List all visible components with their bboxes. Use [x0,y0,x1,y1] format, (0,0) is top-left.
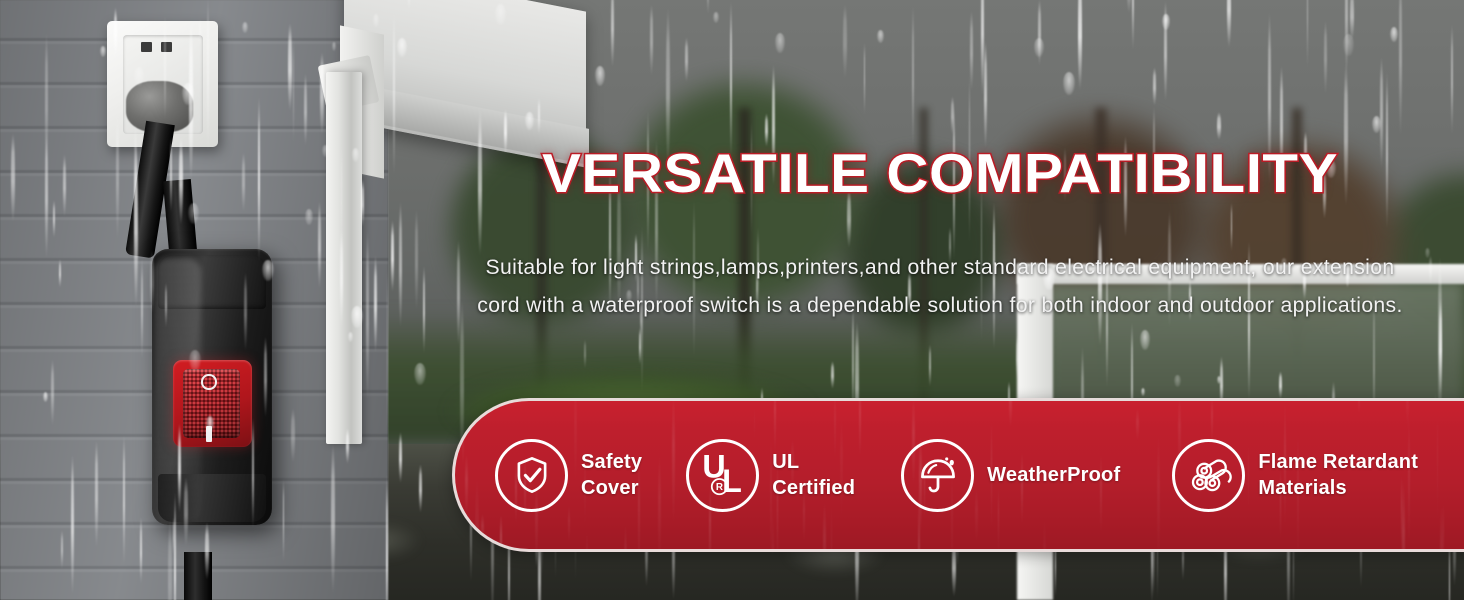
product-banner: VERSATILE COMPATIBILITY Suitable for lig… [0,0,1464,600]
cable-coil-icon [1172,439,1245,512]
feature-item-weatherproof[interactable]: WeatherProof [901,439,1120,512]
feature-badge-bar: Safety Cover U L R UL Certified [452,398,1464,552]
page-title: VERSATILE COMPATIBILITY [442,146,1438,201]
umbrella-rain-icon [901,439,974,512]
ul-certified-icon: U L R [686,439,759,512]
feature-label-flame-retardant: Flame Retardant Materials [1258,449,1418,501]
feature-label-safety-cover: Safety Cover [581,449,642,501]
feature-label-ul-certified: UL Certified [772,449,855,501]
feature-label-weatherproof: WeatherProof [987,462,1120,488]
feature-list: Safety Cover U L R UL Certified [455,401,1464,549]
shield-check-icon [495,439,568,512]
description-paragraph: Suitable for light strings,lamps,printer… [475,248,1405,324]
feature-item-safety-cover[interactable]: Safety Cover [495,439,642,512]
feature-item-flame-retardant[interactable]: Flame Retardant Materials [1172,439,1418,512]
content-overlay: VERSATILE COMPATIBILITY Suitable for lig… [0,0,1464,600]
feature-item-ul-certified[interactable]: U L R UL Certified [686,439,855,512]
svg-text:R: R [716,482,723,493]
